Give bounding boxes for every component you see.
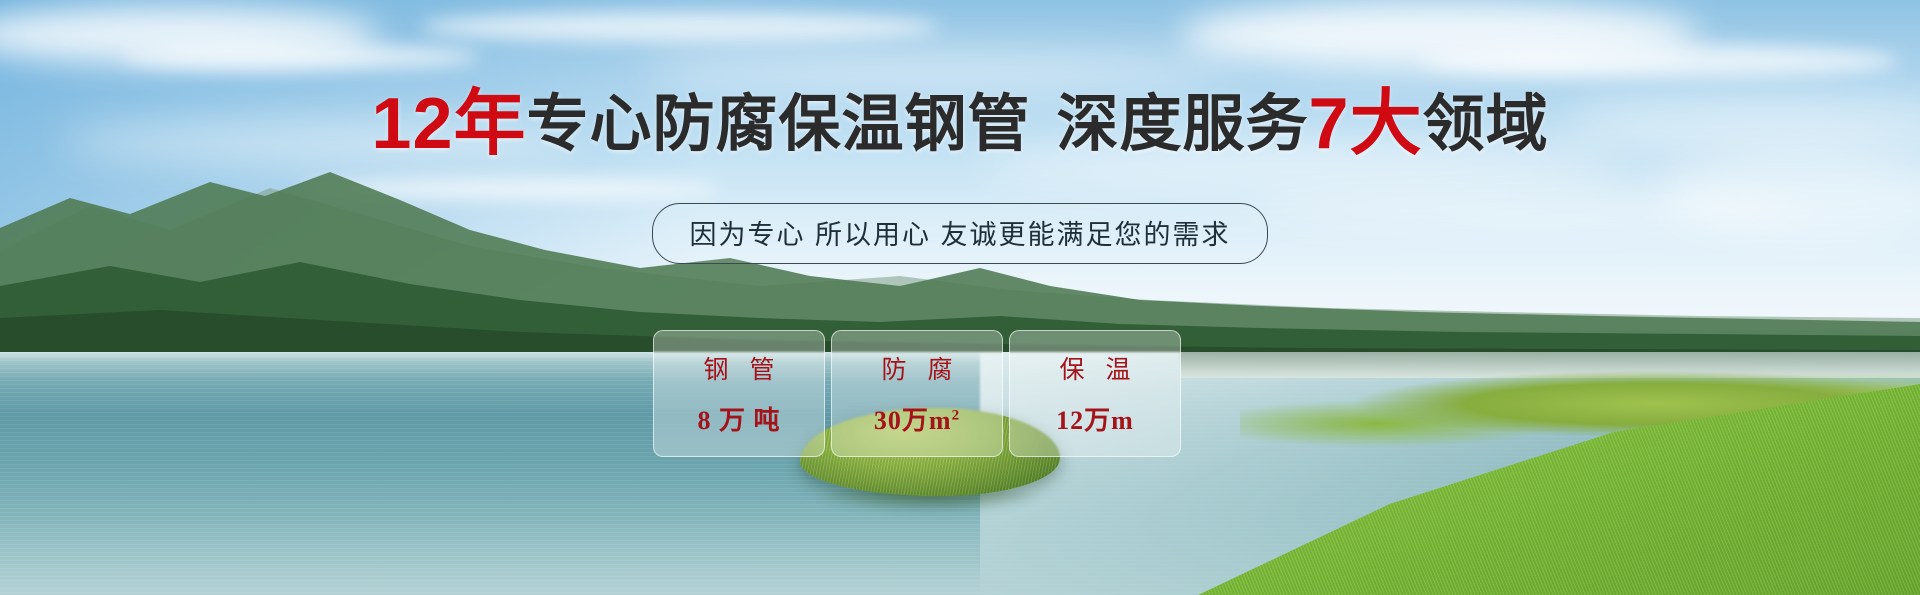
headline-fields: 领域 (1423, 90, 1549, 159)
stat-card-value: 8 万 吨 (697, 400, 780, 437)
stat-card-value-text: 30万m (874, 406, 952, 435)
subtitle-pill: 因为专心 所以用心 友诚更能满足您的需求 (652, 203, 1267, 264)
stat-card-steel-pipe[interactable]: 钢 管 8 万 吨 (653, 330, 825, 457)
headline-main: 专心防腐保温钢管 (527, 90, 1031, 159)
headline-fields-count: 7大 (1309, 84, 1423, 164)
stat-card-value: 30万m2 (874, 400, 960, 437)
subtitle-wrapper: 因为专心 所以用心 友诚更能满足您的需求 (0, 203, 1920, 264)
stat-card-title: 钢 管 (697, 350, 782, 386)
stat-card-value-text: 8 万 吨 (697, 406, 780, 435)
stat-card-title: 保 温 (1053, 350, 1138, 386)
headline-years: 12年 (371, 84, 526, 164)
stat-card-list: 钢 管 8 万 吨 防 腐 30万m2 保 温 12万m (653, 330, 1181, 457)
headline-service: 深度服务 (1057, 90, 1309, 159)
headline: 12年专心防腐保温钢管深度服务7大领域 (0, 88, 1920, 160)
banner-content: 12年专心防腐保温钢管深度服务7大领域 因为专心 所以用心 友诚更能满足您的需求… (0, 0, 1920, 595)
stat-card-insulation[interactable]: 保 温 12万m (1009, 330, 1181, 457)
stat-card-value: 12万m (1056, 400, 1134, 437)
stat-card-anticorrosion[interactable]: 防 腐 30万m2 (831, 330, 1003, 457)
stat-card-value-sup: 2 (952, 407, 961, 423)
stat-card-value-text: 12万m (1056, 406, 1134, 435)
stat-card-title: 防 腐 (875, 350, 960, 386)
promo-banner: 12年专心防腐保温钢管深度服务7大领域 因为专心 所以用心 友诚更能满足您的需求… (0, 0, 1920, 595)
